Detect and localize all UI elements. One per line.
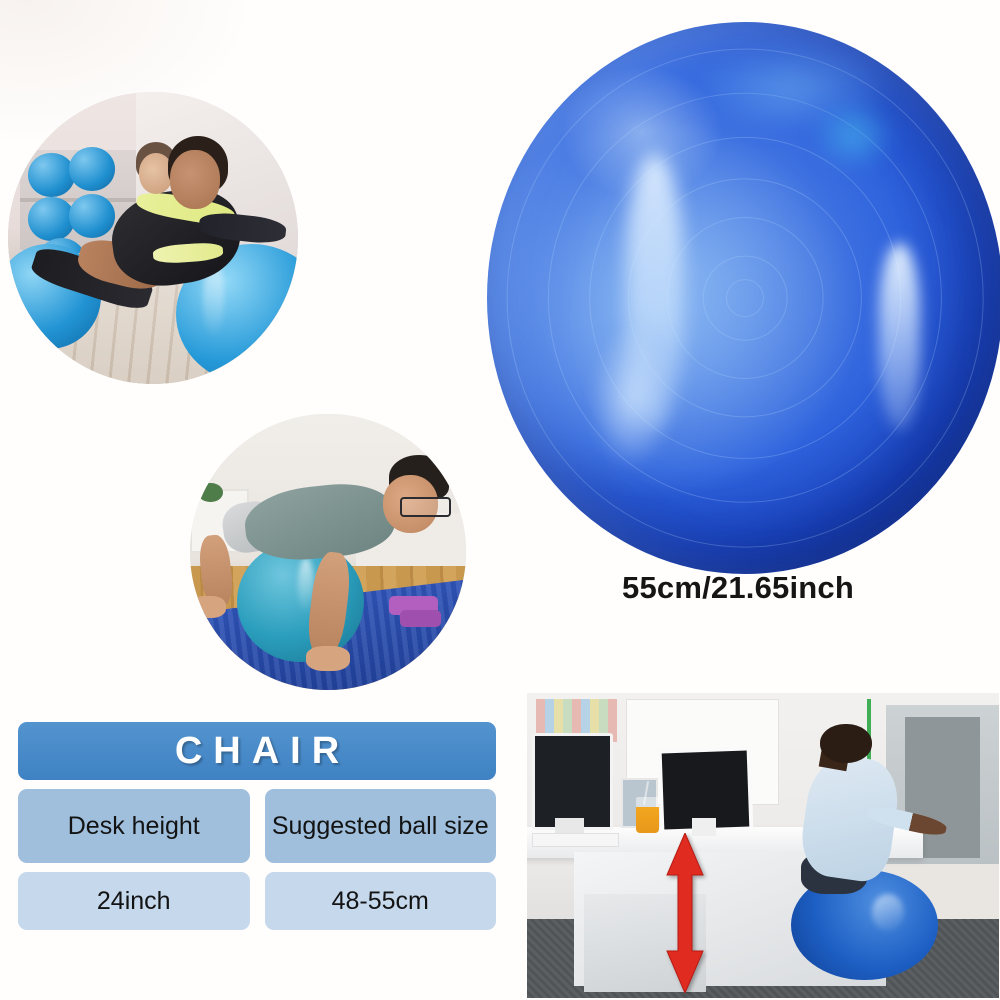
chair-table-title: CHAIR [164, 730, 350, 773]
table-row: 24inch 48-55cm [18, 872, 496, 930]
infographic-canvas: 55cm/21.65inch [0, 0, 1000, 1000]
column-header-desk-height: Desk height [18, 789, 250, 863]
chair-sizing-table: CHAIR Desk height Suggested ball size 24… [18, 722, 496, 930]
ball-right-highlight [879, 243, 920, 431]
chair-table-header-row: Desk height Suggested ball size [18, 789, 496, 863]
ball-cyan-glow [812, 99, 895, 171]
cell-ball-size-value: 48-55cm [265, 872, 497, 930]
ball-left-glow [590, 326, 673, 470]
desk-height-arrow-icon [665, 833, 705, 993]
ball-size-label: 55cm/21.65inch [622, 570, 952, 606]
column-header-suggested-ball-size: Suggested ball size [265, 789, 497, 863]
photo-man-plank [190, 414, 466, 690]
chair-table-header: CHAIR [18, 722, 496, 780]
main-product-ball [487, 22, 1000, 574]
cell-desk-height-value: 24inch [18, 872, 250, 930]
exercise-ball-graphic [487, 22, 1000, 574]
photo-gym-woman [8, 92, 298, 384]
photo-office-desk [527, 693, 999, 998]
